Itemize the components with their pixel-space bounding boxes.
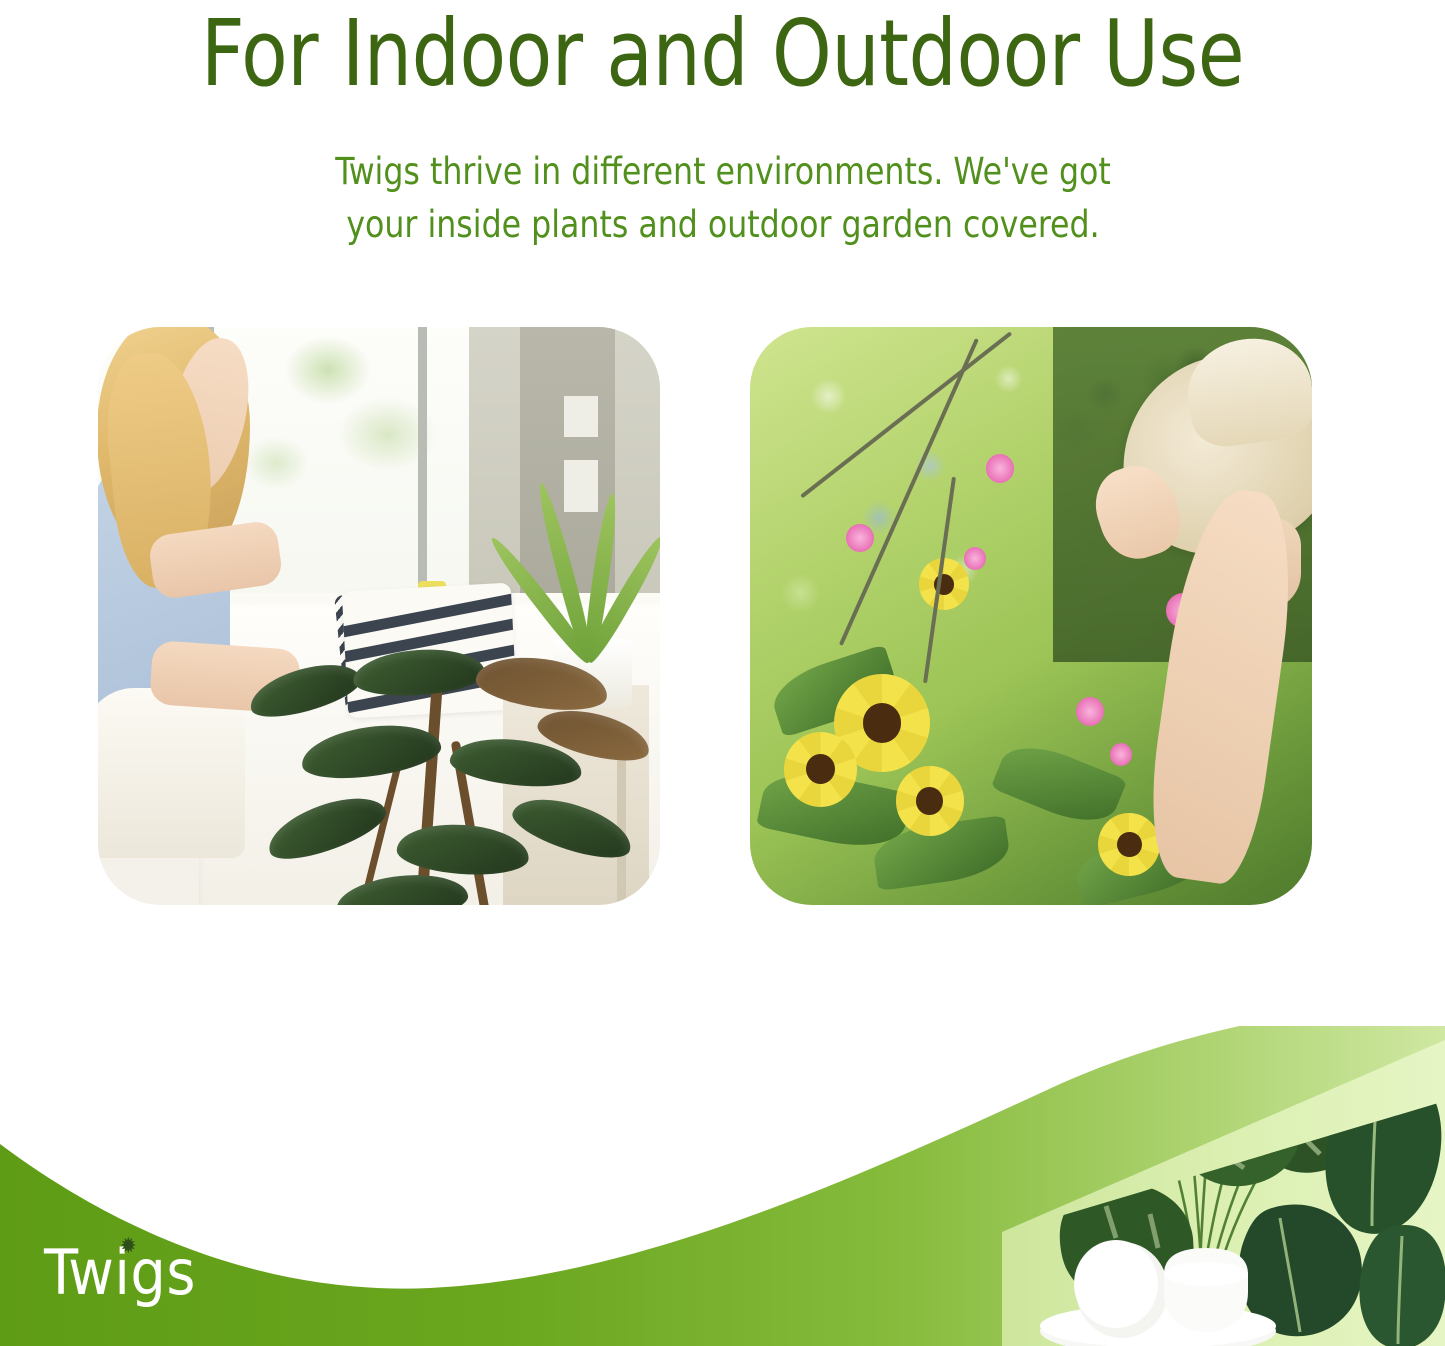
brand-logo[interactable]: Twigs ✹ xyxy=(44,1242,196,1304)
pink-flower-icon xyxy=(1110,743,1132,766)
pink-flower-icon xyxy=(964,547,986,570)
footer-wave-band: Twigs ✹ xyxy=(0,1026,1445,1346)
sunflower-icon xyxy=(919,558,970,610)
pink-flower-icon xyxy=(986,454,1014,483)
pink-flower-icon xyxy=(1076,697,1104,726)
leaf-star-icon: ✹ xyxy=(120,1236,137,1258)
photo-card-outdoors xyxy=(750,327,1312,905)
sunflower-icon xyxy=(1098,813,1160,877)
rubber-plant xyxy=(222,604,660,905)
photo-indoors xyxy=(98,327,660,905)
picture-frame-icon xyxy=(564,396,598,436)
wave-graphic xyxy=(0,1026,1445,1346)
sunflower-icon xyxy=(784,732,857,807)
pink-flower-icon xyxy=(846,524,874,553)
white-pot xyxy=(1164,1248,1248,1332)
photo-outdoors xyxy=(750,327,1312,905)
garden-leaf xyxy=(991,734,1127,834)
page-subtitle: Twigs thrive in different environments. … xyxy=(305,145,1141,252)
page-title: For Indoor and Outdoor Use xyxy=(58,6,1387,103)
photo-row: Indoors Outdoors xyxy=(0,327,1445,907)
photo-card-indoors xyxy=(98,327,660,905)
sunflower-icon xyxy=(896,766,963,835)
header: For Indoor and Outdoor Use Twigs thrive … xyxy=(0,0,1445,252)
tropical-leaf xyxy=(1359,1225,1445,1346)
indoor-scene-illustration xyxy=(98,327,660,905)
outdoor-scene-illustration xyxy=(750,327,1312,905)
twig-branch xyxy=(800,331,1012,498)
